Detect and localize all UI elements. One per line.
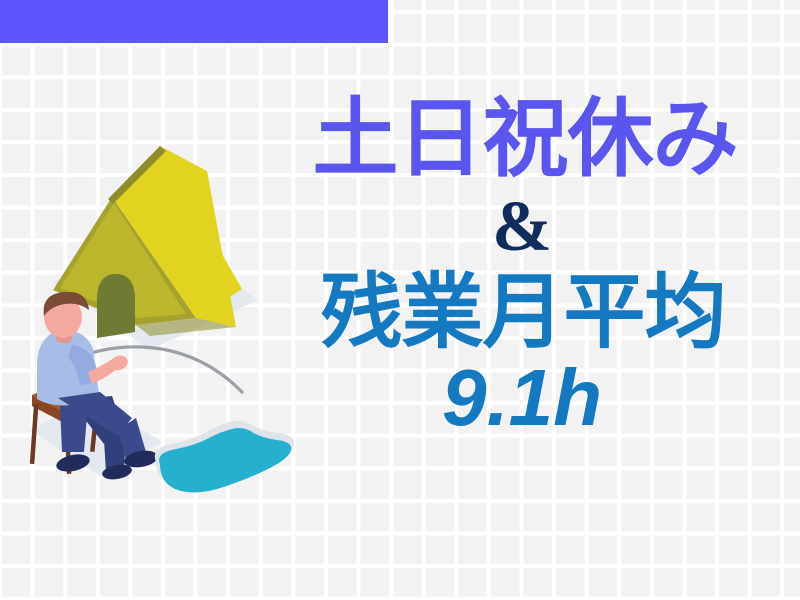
headline-block: 土日祝休み & 残業月平均 9.1h bbox=[262, 96, 782, 438]
headline-line-holidays: 土日祝休み bbox=[268, 96, 782, 184]
headline-ampersand: & bbox=[262, 188, 782, 264]
headline-line-hours: 9.1h bbox=[262, 358, 782, 438]
poster-canvas: 土日祝休み & 残業月平均 9.1h bbox=[0, 0, 800, 600]
headline-line-overtime: 残業月平均 bbox=[264, 270, 782, 356]
purple-accent-bar bbox=[0, 0, 388, 43]
